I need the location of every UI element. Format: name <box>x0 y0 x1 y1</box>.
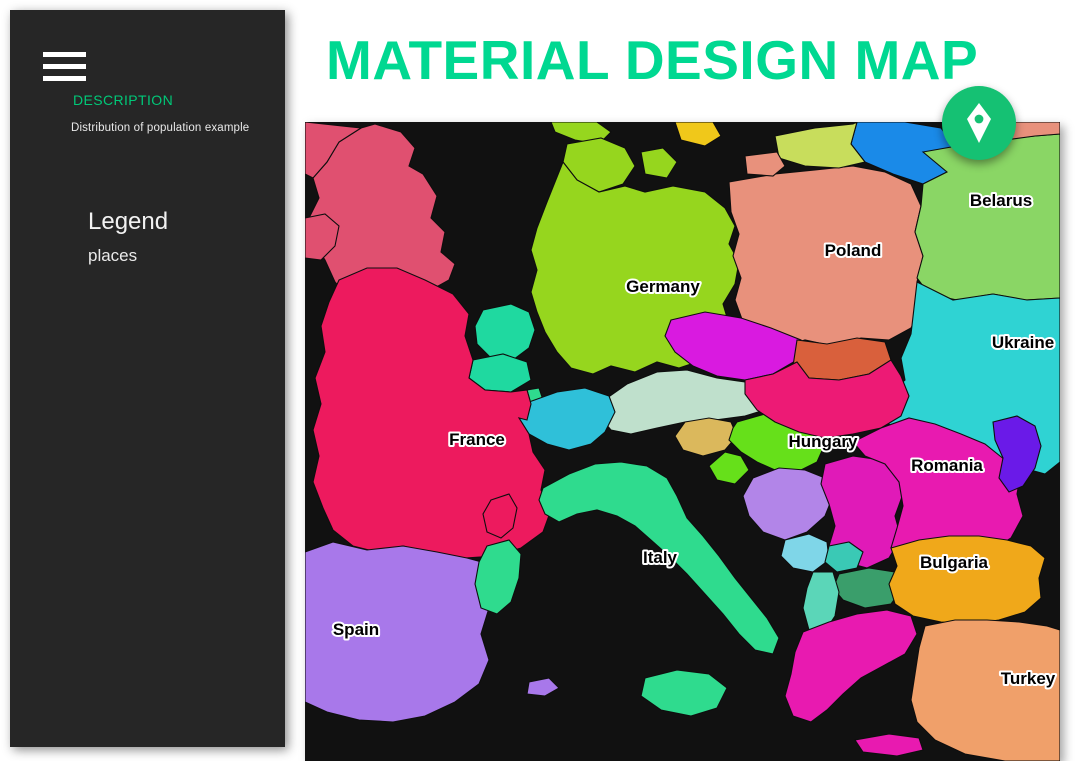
sidebar: DESCRIPTION Distribution of population e… <box>10 10 285 747</box>
legend-subtitle: places <box>88 246 137 266</box>
hamburger-menu-icon[interactable] <box>32 48 92 88</box>
map-label-romania: Romania <box>911 456 983 475</box>
legend-title: Legend <box>88 208 168 236</box>
page-title: MATERIAL DESIGN MAP <box>326 28 978 92</box>
map-label-hungary: Hungary <box>789 432 859 451</box>
map-label-bulgaria: Bulgaria <box>920 553 989 572</box>
map-label-france: France <box>449 430 505 449</box>
country-bulgaria[interactable] <box>889 536 1045 624</box>
map-label-belarus: Belarus <box>970 191 1032 210</box>
map-label-spain: Spain <box>333 620 379 639</box>
map-panel[interactable]: Germany Poland Belarus Ukraine France Hu… <box>305 122 1060 761</box>
menu-bar-3 <box>43 76 86 81</box>
description-heading: DESCRIPTION <box>73 92 173 108</box>
description-text: Distribution of population example <box>71 122 249 134</box>
menu-bar-1 <box>43 52 86 57</box>
map-label-poland: Poland <box>825 241 882 260</box>
map-label-germany: Germany <box>626 277 700 296</box>
menu-bar-2 <box>43 64 86 69</box>
map-pin-icon <box>962 102 996 144</box>
locate-fab-button[interactable] <box>942 86 1016 160</box>
map-label-ukraine: Ukraine <box>992 333 1054 352</box>
map-label-turkey: Turkey <box>1001 669 1056 688</box>
map-label-italy: Italy <box>643 548 678 567</box>
map-svg[interactable]: Germany Poland Belarus Ukraine France Hu… <box>305 122 1060 761</box>
